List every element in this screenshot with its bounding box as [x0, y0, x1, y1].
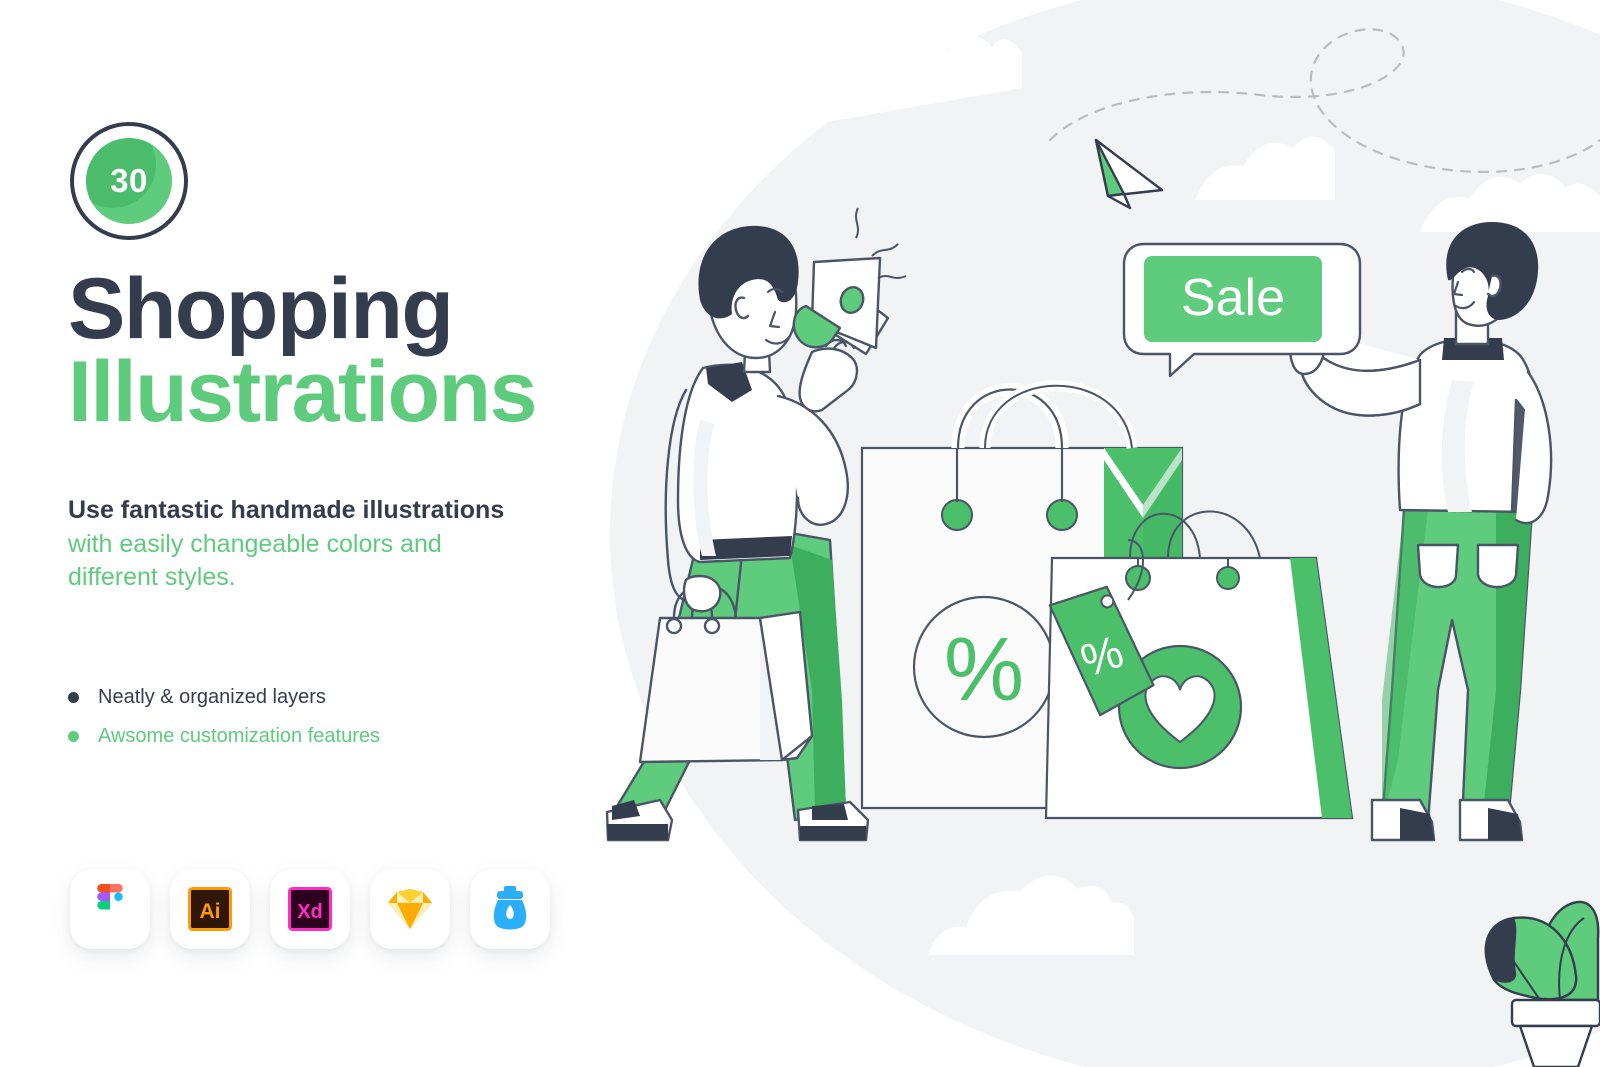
feature-label: Neatly & organized layers [98, 686, 326, 709]
poster-canvas: % % [0, 0, 1600, 1067]
invision-studio-icon [491, 886, 529, 932]
bag-handle-dot [1217, 567, 1239, 589]
app-compatibility-list: Ai Xd [70, 869, 550, 949]
app-card-figma[interactable] [70, 869, 150, 949]
shoe-left [607, 800, 672, 840]
subtitle-soft-line-2: different styles. [68, 561, 538, 595]
bag-handle-dot [1047, 500, 1077, 530]
subtitle-soft-line-1: with easily changeable colors and [68, 528, 538, 562]
title-line-2: Illustrations [68, 351, 588, 434]
subtitle-strong: Use fantastic handmade illustrations [68, 494, 538, 528]
subtitle: Use fantastic handmade illustrations wit… [68, 494, 538, 595]
svg-text:Ai: Ai [200, 900, 221, 923]
app-card-sketch[interactable] [370, 869, 450, 949]
sale-label: Sale [1181, 269, 1285, 327]
feature-label: Awsome customization features [98, 725, 380, 748]
adobe-xd-icon: Xd [288, 887, 332, 931]
bullet-dot-icon [68, 692, 79, 703]
app-card-invision-studio[interactable] [470, 869, 550, 949]
feature-item: Awsome customization features [68, 717, 538, 756]
feature-list: Neatly & organized layers Awsome customi… [68, 678, 538, 756]
app-card-illustrator[interactable]: Ai [170, 869, 250, 949]
svg-text:Xd: Xd [297, 901, 323, 923]
percent-symbol: % [944, 620, 1024, 720]
bag-handle-dot [1126, 566, 1150, 590]
bag-handle-dot [942, 500, 972, 530]
adobe-illustrator-icon: Ai [188, 887, 232, 931]
text-panel: 30 Shopping Illustrations Use fantastic … [0, 0, 600, 1067]
count-badge: 30 [70, 122, 188, 240]
bullet-dot-icon [68, 731, 79, 742]
app-card-xd[interactable]: Xd [270, 869, 350, 949]
page-title: Shopping Illustrations [68, 268, 588, 433]
title-line-1: Shopping [68, 268, 588, 351]
feature-item: Neatly & organized layers [68, 678, 538, 717]
badge-count-label: 30 [70, 122, 188, 240]
sketch-icon [387, 888, 433, 930]
figma-icon [93, 884, 127, 934]
